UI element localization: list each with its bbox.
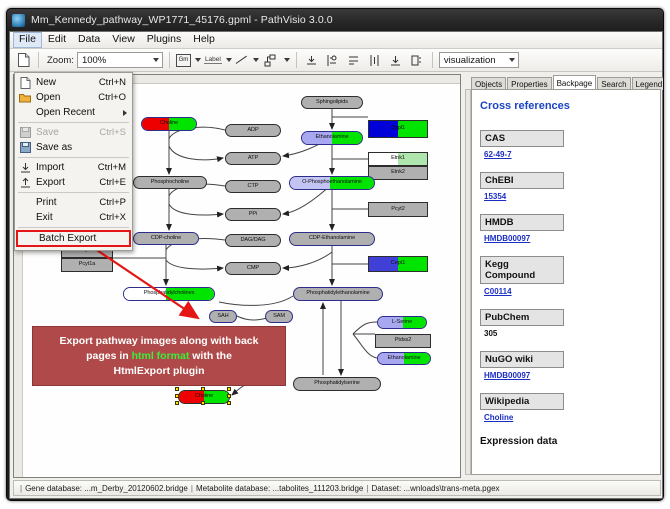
cross-reference-entry: WikipediaCholine [480,393,652,432]
pathway-node-etnk2[interactable]: Etnk2 [368,166,428,180]
chevron-down-icon [509,58,515,62]
title-bar: Mm_Kennedy_pathway_WP1771_45176.gpml - P… [7,9,664,31]
file-menu-item-batch-export[interactable]: Batch Export [16,230,131,247]
pathway-node-label: CTP [248,184,259,190]
align-left-icon[interactable] [324,51,342,69]
window-title: Mm_Kennedy_pathway_WP1771_45176.gpml - P… [31,14,333,26]
menu-item-shortcut: Ctrl+E [99,177,132,188]
zoom-value: 100% [82,55,106,66]
new-file-button[interactable] [14,51,32,69]
side-panel: ObjectsPropertiesBackpageSearchLegend Cr… [465,74,661,478]
cross-reference-source-label: PubChem [480,309,564,326]
menu-item-file[interactable]: File [13,32,42,48]
menu-item-label: Exit [33,212,99,223]
menu-item-no-icon [17,106,33,119]
status-divider: | [363,484,371,493]
export-icon [17,176,33,189]
selection-handle[interactable] [201,401,205,405]
banner-line2-a: pages in [86,350,132,362]
open-folder-icon [17,91,33,104]
align-top-icon[interactable] [303,51,321,69]
menu-item-no-icon [20,232,36,245]
menu-item-shortcut: Ctrl+X [99,212,132,223]
pathway-node-label: CDP-Ethanolamine [309,236,355,242]
pathway-node-label: Pcyt2 [391,207,405,213]
cross-reference-value[interactable]: 15354 [480,189,652,211]
pathway-node-label: SAH [217,314,228,320]
file-menu-item-import[interactable]: ImportCtrl+M [15,160,132,175]
toolbar-divider [38,52,39,68]
toolbar-divider [169,52,170,68]
client-area: File Edit Data View Plugins Help Zoom: 1… [9,31,663,499]
pathway-node-label: Phosphatidylethanolamine [306,291,369,297]
dataset-value: ...wnloads\trans-meta.pgex [403,484,499,493]
pathway-node-sgpl1[interactable]: Sgpl1 [368,120,428,138]
menu-item-label: Import [33,162,98,173]
pathway-node-ethanolamine-bottom[interactable]: Ethanolamine [377,352,431,365]
label-tool-icon[interactable]: Label [204,56,222,64]
status-bar: | Gene database: ...m_Derby_20120602.bri… [13,480,661,496]
pathway-node-label: ATP [248,156,258,162]
menu-item-shortcut: Ctrl+O [98,92,132,103]
pathway-node-label: O-Phosphoethanolamine [302,180,362,186]
pathway-node-cdp-choline[interactable]: CDP-choline [133,232,199,245]
cross-reference-link[interactable]: Choline [484,413,513,422]
pathway-node-o-phosphoethanolamine[interactable]: O-Phosphoethanolamine [289,176,375,190]
menu-item-shortcut: Ctrl+M [98,162,132,173]
cross-reference-source-label: NuGO wiki [480,351,564,368]
menu-item-label: Print [33,197,99,208]
file-menu-item-print[interactable]: PrintCtrl+P [15,195,132,210]
cross-reference-link[interactable]: 15354 [484,192,506,201]
cross-reference-value[interactable]: HMDB00097 [480,231,652,253]
pathway-node-label: Cept1 [391,261,405,267]
status-divider: | [188,484,196,493]
menu-item-help[interactable]: Help [187,32,221,48]
toolbar-divider [296,52,297,68]
pathway-node-label: Ethanolamine [387,356,420,362]
cross-references-heading: Cross references [480,100,652,112]
pathway-node-adp[interactable]: ADP [225,124,281,137]
file-menu-item-open[interactable]: OpenCtrl+O [15,90,132,105]
pathway-node-sah[interactable]: SAH [209,310,237,323]
menu-item-label: New [33,77,99,88]
banner-line1: Export pathway images along with back [60,335,259,347]
group-icon[interactable] [408,51,426,69]
cross-reference-value[interactable]: C00114 [480,284,652,306]
pathway-node-ppi[interactable]: PPi [225,208,281,221]
cross-reference-value[interactable]: Choline [480,410,652,432]
menu-item-label: Open [33,92,98,103]
selection-handle[interactable] [175,401,179,405]
pathway-node-label: Ptdss2 [395,338,412,344]
tool-bar: Zoom: 100% Gm Label [10,49,662,72]
pathway-node-ptdss2[interactable]: Ptdss2 [375,334,431,348]
file-menu-item-open-recent[interactable]: Open Recent [15,105,132,120]
pathway-node-sphingolipids[interactable]: Sphingolipids [301,96,363,109]
banner-line3: HtmlExport plugin [114,365,205,377]
connector-tool-icon[interactable] [262,51,280,69]
banner-highlight: html format [132,350,190,362]
pathway-node-phosphatidylcholines[interactable]: Phosphatidylcholines [123,287,215,301]
distribute-icon[interactable] [366,51,384,69]
menu-item-data[interactable]: Data [72,32,106,48]
cross-reference-entry: PubChem305 [480,309,652,348]
banner-line2-b: with the [189,350,232,362]
menu-separator [18,227,129,228]
pathway-node-sam[interactable]: SAM [265,310,293,323]
pathway-node-label: Ethanolamine [315,135,348,141]
metabolite-database-value: ...tabolites_111203.bridge [272,484,363,493]
file-menu-dropdown[interactable]: NewCtrl+NOpenCtrl+OOpen RecentSaveCtrl+S… [14,72,133,251]
pathway-node-label: CMP [247,266,259,272]
gpml-shape-icon[interactable]: Gm [176,54,191,67]
pathway-node-cept1[interactable]: Cept1 [368,256,428,272]
cross-reference-source-label: ChEBI [480,172,564,189]
cross-reference-source-label: Kegg Compound [480,256,564,284]
selection-handle[interactable] [175,394,179,398]
menu-item-label: Save [33,127,99,138]
chevron-down-icon[interactable] [253,58,259,62]
menu-item-shortcut: Ctrl+N [99,77,132,88]
visualization-value: visualization [444,55,496,66]
file-menu-item-exit[interactable]: ExitCtrl+X [15,210,132,225]
menu-item-no-icon [17,196,33,209]
pathway-node-l-serine[interactable]: L-Serine [377,316,427,329]
pathway-node-label: PPi [249,212,257,218]
line-tool-icon[interactable] [235,55,249,65]
status-divider: | [17,484,25,493]
save-as-icon [17,141,33,154]
menu-item-label: Export [33,177,99,188]
file-menu-item-save-as[interactable]: Save as [15,140,132,155]
pathway-node-label: Choline [160,121,178,127]
pathway-node-phosphatidylethanolamine[interactable]: Phosphatidylethanolamine [293,287,383,301]
gene-database-value: ...m_Derby_20120602.bridge [84,484,188,493]
pathway-node-label: CDP-choline [151,236,181,242]
stack-icon[interactable] [387,51,405,69]
menu-item-no-icon [17,211,33,224]
selection-handle[interactable] [201,387,205,391]
align-center-icon[interactable] [345,51,363,69]
menu-item-edit[interactable]: Edit [42,32,72,48]
menu-item-plugins[interactable]: Plugins [141,32,187,48]
gene-database-label: Gene database: [25,484,82,493]
selection-handle[interactable] [175,387,179,391]
zoom-label: Zoom: [47,55,74,66]
backpage-tab-panel: Cross references CAS62-49-7ChEBI15354HMD… [471,89,661,475]
menu-item-shortcut: Ctrl+P [99,197,132,208]
metabolite-database-label: Metabolite database: [196,484,270,493]
pathway-node-label: L-Serine [392,320,412,326]
cross-reference-entry: Kegg CompoundC00114 [480,256,652,306]
pathway-node-label: ADP [247,128,258,134]
save-disk-icon [17,126,33,139]
cross-reference-source-label: HMDB [480,214,564,231]
chevron-down-icon[interactable] [226,58,232,62]
pathway-node-phosphocholine[interactable]: Phosphocholine [133,176,207,189]
pathway-node-choline-top[interactable]: Choline [141,117,197,131]
chevron-down-icon[interactable] [284,58,290,62]
menu-item-shortcut: Ctrl+S [99,127,132,138]
chevron-down-icon [153,58,159,62]
tab-backpage[interactable]: Backpage [553,75,597,90]
pathway-node-cdp-ethanolamine[interactable]: CDP-Ethanolamine [289,232,375,246]
menu-item-label: Open Recent [33,107,123,118]
file-menu-item-new[interactable]: NewCtrl+N [15,75,132,90]
cross-reference-link[interactable]: C00114 [484,287,512,296]
pathway-node-pcyt2[interactable]: Pcyt2 [368,202,428,217]
pathvisio-icon [12,14,25,27]
pathway-node-label: Phosphatidylserine [314,381,359,387]
dataset-label: Dataset: [371,484,401,493]
menu-bar: File Edit Data View Plugins Help [10,32,662,49]
cross-reference-entry: ChEBI15354 [480,172,652,211]
selection-handle[interactable] [227,401,231,405]
visualization-select[interactable]: visualization [439,52,519,68]
menu-separator [18,192,129,193]
pathway-node-label: Phosphatidylcholines [144,291,195,297]
cross-reference-source-label: CAS [480,130,564,147]
cross-reference-value[interactable]: HMDB00097 [480,368,652,390]
file-menu-item-export[interactable]: ExportCtrl+E [15,175,132,190]
pathway-node-label: SAM [273,314,285,320]
pathway-node-label: Etnk1 [391,156,405,162]
selection-handle[interactable] [227,387,231,391]
pathway-node-phosphatidylserine[interactable]: Phosphatidylserine [293,377,381,391]
zoom-select[interactable]: 100% [77,52,163,68]
pathway-node-label: Choline [195,394,213,400]
pathway-node-pcyt1a[interactable]: Pcyt1a [61,258,113,272]
new-document-icon [17,76,33,89]
import-icon [17,161,33,174]
menu-item-label: Batch Export [36,233,123,244]
pathway-node-label: Phosphocholine [151,180,189,186]
cross-reference-value: 305 [480,326,652,348]
pathway-node-etnk1[interactable]: Etnk1 [368,152,428,166]
pathway-node-cmp[interactable]: CMP [225,262,281,275]
application-window: Mm_Kennedy_pathway_WP1771_45176.gpml - P… [6,8,664,501]
screenshot-root: Mm_Kennedy_pathway_WP1771_45176.gpml - P… [0,0,670,509]
chevron-down-icon[interactable] [195,58,201,62]
side-panel-tabs[interactable]: ObjectsPropertiesBackpageSearchLegend [471,74,661,90]
pathway-node-dag-dag[interactable]: DAG/DAG [225,234,281,247]
cross-reference-source-label: Wikipedia [480,393,564,410]
pathway-node-label: Sphingolipids [316,100,348,106]
cross-reference-value[interactable]: 62-49-7 [480,147,652,169]
menu-separator [18,122,129,123]
pathway-node-atp[interactable]: ATP [225,152,281,165]
selection-handle[interactable] [227,394,231,398]
cross-reference-list: CAS62-49-7ChEBI15354HMDBHMDB00097Kegg Co… [480,130,652,432]
toolbar-divider [432,52,433,68]
expression-data-heading: Expression data [480,436,652,447]
annotation-banner: Export pathway images along with back pa… [32,326,286,386]
menu-separator [18,157,129,158]
cross-reference-entry: CAS62-49-7 [480,130,652,169]
pathway-node-label: Sgpl1 [391,126,405,132]
pathway-node-label: Pcyt1a [79,262,96,268]
pathway-node-ctp[interactable]: CTP [225,180,281,193]
pathway-node-label: DAG/DAG [240,238,265,244]
pathway-node-label: Etnk2 [391,170,405,176]
cross-reference-entry: NuGO wikiHMDB00097 [480,351,652,390]
cross-reference-link[interactable]: HMDB00097 [484,234,530,243]
menu-item-label: Save as [33,142,126,153]
menu-item-view[interactable]: View [106,32,141,48]
cross-reference-entry: HMDBHMDB00097 [480,214,652,253]
pathway-node-ethanolamine-top[interactable]: Ethanolamine [301,131,363,145]
cross-reference-link[interactable]: 62-49-7 [484,150,512,159]
chevron-right-icon [123,110,127,116]
cross-reference-link[interactable]: HMDB00097 [484,371,530,380]
file-menu-item-save: SaveCtrl+S [15,125,132,140]
